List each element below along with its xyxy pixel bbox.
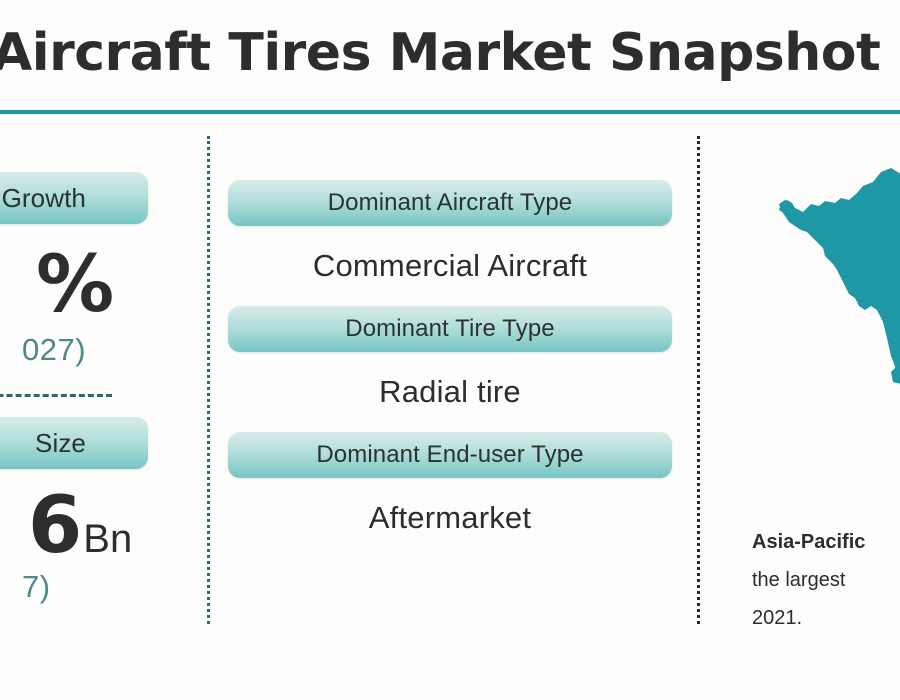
growth-period: 027) [22,332,175,368]
dominant-end-user-type-pill: Dominant End-user Type [228,432,672,478]
dominant-tire-type-pill: Dominant Tire Type [228,306,672,352]
middle-column: Dominant Aircraft Type Commercial Aircra… [228,136,672,536]
left-column: Growth % 027) Size 6 Bn 7) [0,136,175,605]
market-size-period: 7) [22,569,175,605]
header: Aircraft Tires Market Snapshot [0,0,900,112]
divider-right [697,136,700,624]
header-rule [0,110,900,114]
growth-value-text: % [36,246,113,324]
region-description: Asia-Pacific the largest 2021. [752,523,900,637]
asia-pacific-map-icon [745,160,900,395]
infographic-canvas: Aircraft Tires Market Snapshot Growth % … [0,0,900,700]
growth-value: % [36,246,175,324]
left-column-separator [0,394,112,397]
region-line-2: the largest [752,561,900,599]
market-size-value: 6 Bn [28,487,175,565]
market-size-pill: Size [0,417,148,469]
region-name: Asia-Pacific [752,531,865,553]
market-size-unit: Bn [83,519,132,565]
dominant-aircraft-type-value: Commercial Aircraft [228,248,672,284]
dominant-end-user-type-value: Aftermarket [228,500,672,536]
growth-pill: Growth [0,172,148,224]
divider-left [207,136,210,624]
dominant-aircraft-type-pill: Dominant Aircraft Type [228,180,672,226]
region-line-3: 2021. [752,599,900,637]
page-title: Aircraft Tires Market Snapshot [0,23,880,83]
region-line-1: Asia-Pacific [752,523,900,561]
dominant-tire-type-value: Radial tire [228,374,672,410]
market-size-number: 6 [28,487,81,565]
